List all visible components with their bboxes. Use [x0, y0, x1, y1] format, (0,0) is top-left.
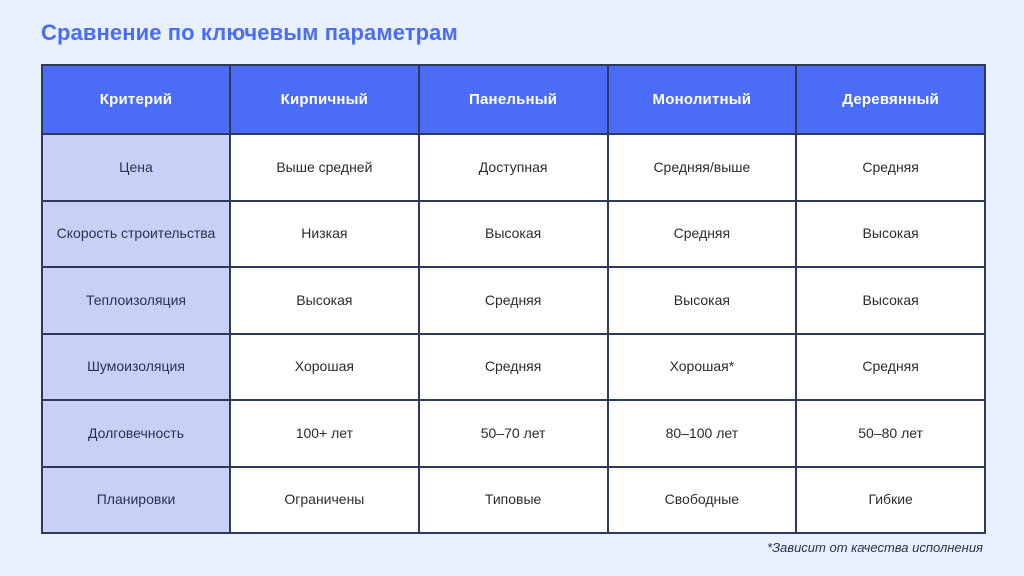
value-cell: Высокая — [419, 201, 608, 268]
value-cell: Средняя/выше — [608, 134, 797, 201]
table-row: ТеплоизоляцияВысокаяСредняяВысокаяВысока… — [42, 267, 985, 334]
value-cell: Хорошая* — [608, 334, 797, 401]
value-cell: 80–100 лет — [608, 400, 797, 467]
criterion-cell: Шумоизоляция — [42, 334, 230, 401]
column-header-4: Деревянный — [796, 65, 985, 134]
value-cell: Свободные — [608, 467, 797, 534]
value-cell: Гибкие — [796, 467, 985, 534]
value-cell: Низкая — [230, 201, 419, 268]
value-cell: 100+ лет — [230, 400, 419, 467]
column-header-2: Панельный — [419, 65, 608, 134]
value-cell: Средняя — [419, 334, 608, 401]
page-title: Сравнение по ключевым параметрам — [41, 20, 458, 46]
value-cell: Типовые — [419, 467, 608, 534]
table-row: Скорость строительстваНизкаяВысокаяСредн… — [42, 201, 985, 268]
comparison-table: КритерийКирпичныйПанельныйМонолитныйДере… — [41, 64, 986, 534]
criterion-cell: Цена — [42, 134, 230, 201]
value-cell: 50–70 лет — [419, 400, 608, 467]
value-cell: Выше средней — [230, 134, 419, 201]
table-row: ЦенаВыше среднейДоступнаяСредняя/вышеСре… — [42, 134, 985, 201]
table-row: Долговечность100+ лет50–70 лет80–100 лет… — [42, 400, 985, 467]
table-header-row: КритерийКирпичныйПанельныйМонолитныйДере… — [42, 65, 985, 134]
criterion-cell: Долговечность — [42, 400, 230, 467]
value-cell: Ограничены — [230, 467, 419, 534]
value-cell: Средняя — [796, 334, 985, 401]
column-header-3: Монолитный — [608, 65, 797, 134]
column-header-1: Кирпичный — [230, 65, 419, 134]
value-cell: Высокая — [608, 267, 797, 334]
value-cell: Средняя — [608, 201, 797, 268]
column-header-0: Критерий — [42, 65, 230, 134]
value-cell: 50–80 лет — [796, 400, 985, 467]
value-cell: Доступная — [419, 134, 608, 201]
value-cell: Высокая — [230, 267, 419, 334]
value-cell: Средняя — [419, 267, 608, 334]
table-header: КритерийКирпичныйПанельныйМонолитныйДере… — [42, 65, 985, 134]
criterion-cell: Теплоизоляция — [42, 267, 230, 334]
criterion-cell: Планировки — [42, 467, 230, 534]
table-row: ШумоизоляцияХорошаяСредняяХорошая*Средня… — [42, 334, 985, 401]
value-cell: Средняя — [796, 134, 985, 201]
table-footnote: *Зависит от качества исполнения — [767, 540, 983, 555]
value-cell: Высокая — [796, 201, 985, 268]
value-cell: Высокая — [796, 267, 985, 334]
value-cell: Хорошая — [230, 334, 419, 401]
table-body: ЦенаВыше среднейДоступнаяСредняя/вышеСре… — [42, 134, 985, 533]
table-row: ПланировкиОграниченыТиповыеСвободныеГибк… — [42, 467, 985, 534]
criterion-cell: Скорость строительства — [42, 201, 230, 268]
